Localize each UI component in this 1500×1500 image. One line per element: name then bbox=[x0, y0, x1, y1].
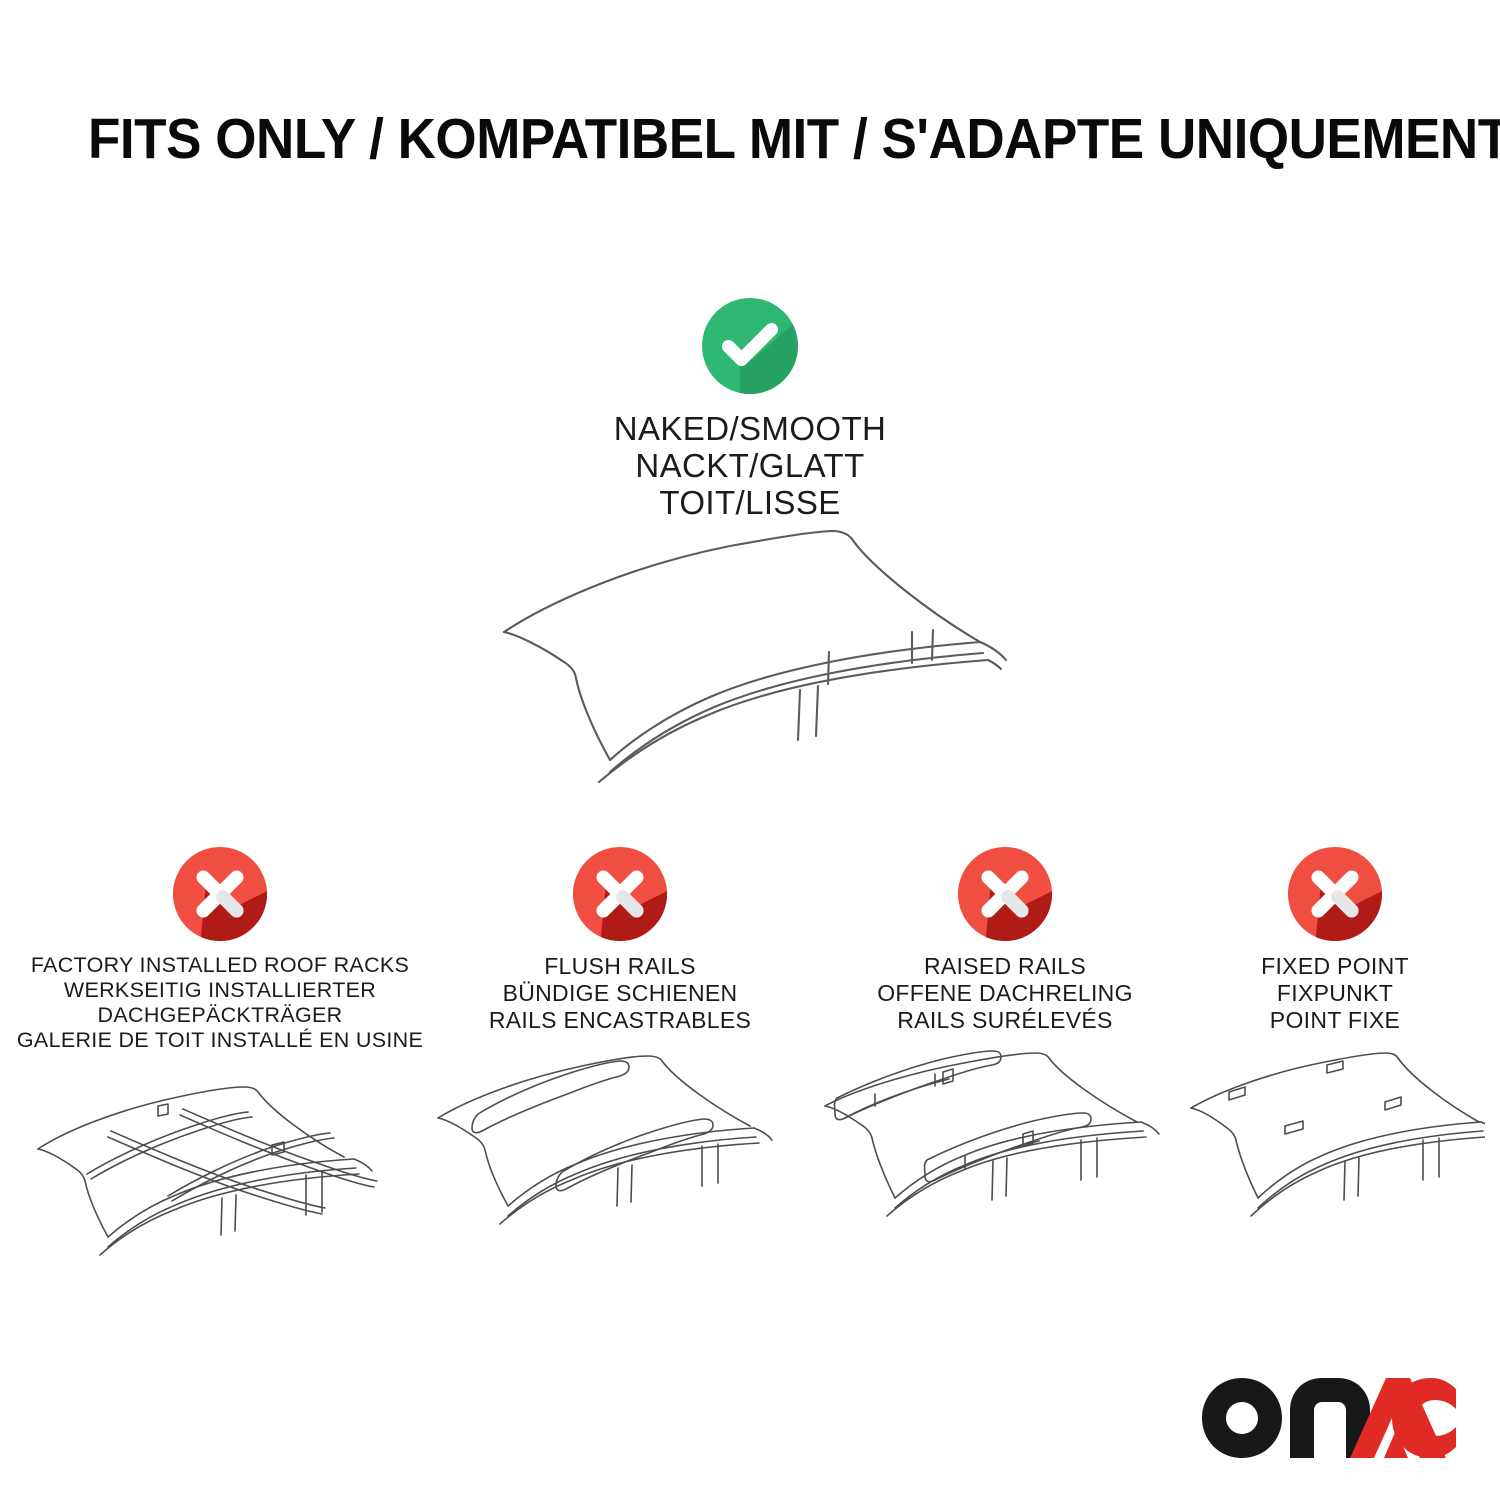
rejected-option-fixed-point: FIXED POINT FIXPUNKT POINT FIXE bbox=[1185, 845, 1485, 1263]
car-roof-fixed-point-illustration bbox=[1185, 1048, 1485, 1263]
rejected-option-raised-rails: RAISED RAILS OFFENE DACHRELING RAILS SUR… bbox=[815, 845, 1195, 1263]
rejected-label-de-1: OFFENE DACHRELING bbox=[815, 980, 1195, 1007]
rejected-label-de-1: FIXPUNKT bbox=[1185, 980, 1485, 1007]
x-circle-icon bbox=[956, 845, 1054, 943]
rejected-option-flush-rails: FLUSH RAILS BÜNDIGE SCHIENEN RAILS ENCAS… bbox=[430, 845, 810, 1263]
x-circle-icon bbox=[571, 845, 669, 943]
rejected-label: RAISED RAILS OFFENE DACHRELING RAILS SUR… bbox=[815, 953, 1195, 1034]
rejected-label-de-1: BÜNDIGE SCHIENEN bbox=[430, 980, 810, 1007]
x-circle-icon bbox=[171, 845, 269, 943]
rejected-label-en: FIXED POINT bbox=[1185, 953, 1485, 980]
approved-label: NAKED/SMOOTH NACKT/GLATT TOIT/LISSE bbox=[430, 410, 1070, 521]
page-title: FITS ONLY / KOMPATIBEL MIT / S'ADAPTE UN… bbox=[88, 108, 1334, 170]
rejected-label-en: FACTORY INSTALLED ROOF RACKS bbox=[10, 953, 430, 978]
rejected-label-fr: GALERIE DE TOIT INSTALLÉ EN USINE bbox=[10, 1028, 430, 1053]
approved-label-de: NACKT/GLATT bbox=[430, 447, 1070, 484]
rejected-label-en: FLUSH RAILS bbox=[430, 953, 810, 980]
car-roof-raised-rails-illustration bbox=[815, 1048, 1195, 1263]
compatibility-infographic: FITS ONLY / KOMPATIBEL MIT / S'ADAPTE UN… bbox=[0, 0, 1500, 1500]
approved-label-en: NAKED/SMOOTH bbox=[614, 410, 887, 447]
car-roof-smooth-illustration bbox=[480, 520, 1040, 810]
check-circle-icon bbox=[700, 296, 800, 396]
approved-option: NAKED/SMOOTH NACKT/GLATT TOIT/LISSE bbox=[430, 296, 1070, 521]
rejected-label: FACTORY INSTALLED ROOF RACKS WERKSEITIG … bbox=[10, 953, 430, 1053]
rejected-label-fr: RAILS ENCASTRABLES bbox=[430, 1007, 810, 1034]
car-roof-factory-rack-illustration bbox=[10, 1067, 430, 1282]
rejected-label: FIXED POINT FIXPUNKT POINT FIXE bbox=[1185, 953, 1485, 1034]
rejected-label: FLUSH RAILS BÜNDIGE SCHIENEN RAILS ENCAS… bbox=[430, 953, 810, 1034]
approved-label-fr: TOIT/LISSE bbox=[430, 484, 1070, 521]
rejected-label-de-2: DACHGEPÄCKTRÄGER bbox=[10, 1003, 430, 1028]
omac-logo bbox=[1200, 1376, 1458, 1460]
rejected-label-en: RAISED RAILS bbox=[815, 953, 1195, 980]
car-roof-flush-rails-illustration bbox=[430, 1048, 810, 1263]
rejected-option-factory-racks: FACTORY INSTALLED ROOF RACKS WERKSEITIG … bbox=[10, 845, 430, 1282]
x-circle-icon bbox=[1286, 845, 1384, 943]
rejected-label-fr: POINT FIXE bbox=[1185, 1007, 1485, 1034]
rejected-label-fr: RAILS SURÉLEVÉS bbox=[815, 1007, 1195, 1034]
rejected-label-de-1: WERKSEITIG INSTALLIERTER bbox=[10, 978, 430, 1003]
